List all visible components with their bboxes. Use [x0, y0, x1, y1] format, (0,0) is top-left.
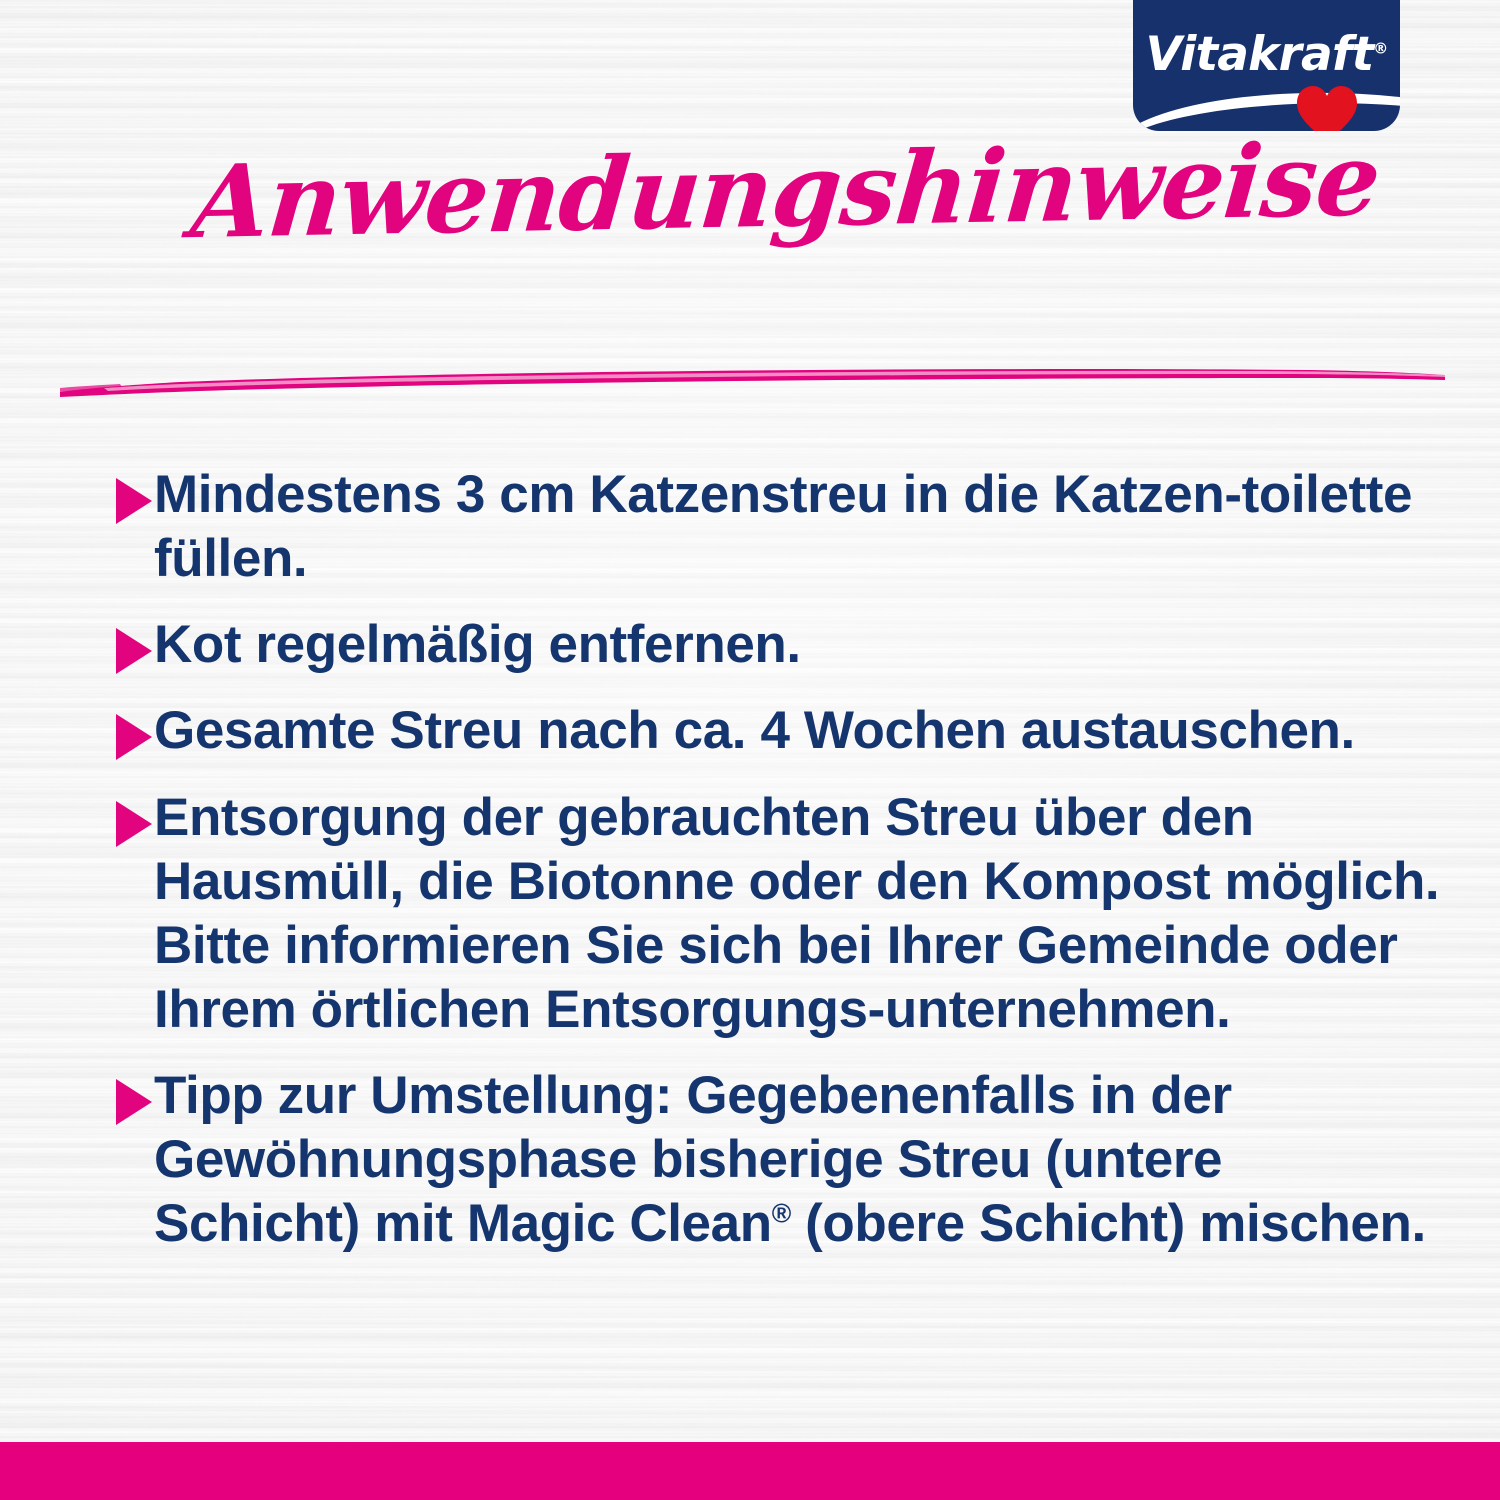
list-item-text: Kot regelmäßig entfernen. [154, 613, 1442, 677]
triangle-right-icon [112, 624, 154, 668]
registered-trademark-icon: ® [1373, 39, 1387, 57]
list-item: Mindestens 3 cm Katzenstreu in die Katze… [112, 463, 1442, 591]
list-item-text: Entsorgung der gebrauchten Streu über de… [154, 786, 1442, 1043]
footer-accent-bar [0, 1442, 1500, 1500]
list-item-text: Mindestens 3 cm Katzenstreu in die Katze… [154, 463, 1442, 591]
instructions-list: Mindestens 3 cm Katzenstreu in die Katze… [112, 463, 1442, 1278]
triangle-right-icon [112, 797, 154, 841]
triangle-right-icon [112, 1075, 154, 1119]
registered-trademark-icon: ® [772, 1199, 791, 1229]
list-item: Tipp zur Umstellung: Gegebenenfalls in d… [112, 1064, 1442, 1256]
triangle-right-icon [112, 710, 154, 754]
list-item: Gesamte Streu nach ca. 4 Wochen austausc… [112, 699, 1442, 763]
list-item-text-part-2: (obere Schicht) mischen. [791, 1194, 1426, 1253]
vitakraft-logo: Vitakraft® [1133, 0, 1400, 131]
list-item: Entsorgung der gebrauchten Streu über de… [112, 786, 1442, 1043]
logo-brand-text: Vitakraft [1146, 27, 1374, 82]
list-item-text: Tipp zur Umstellung: Gegebenenfalls in d… [154, 1064, 1442, 1256]
list-item-text: Gesamte Streu nach ca. 4 Wochen austausc… [154, 699, 1442, 763]
list-item: Kot regelmäßig entfernen. [112, 613, 1442, 677]
triangle-right-icon [112, 474, 154, 518]
product-info-panel: Vitakraft® Anwendungshinweise Mindestens… [0, 0, 1500, 1500]
page-title: Anwendungshinweise [187, 127, 1376, 255]
brush-stroke-divider [60, 358, 1445, 402]
logo-wordmark: Vitakraft® [1133, 31, 1400, 78]
